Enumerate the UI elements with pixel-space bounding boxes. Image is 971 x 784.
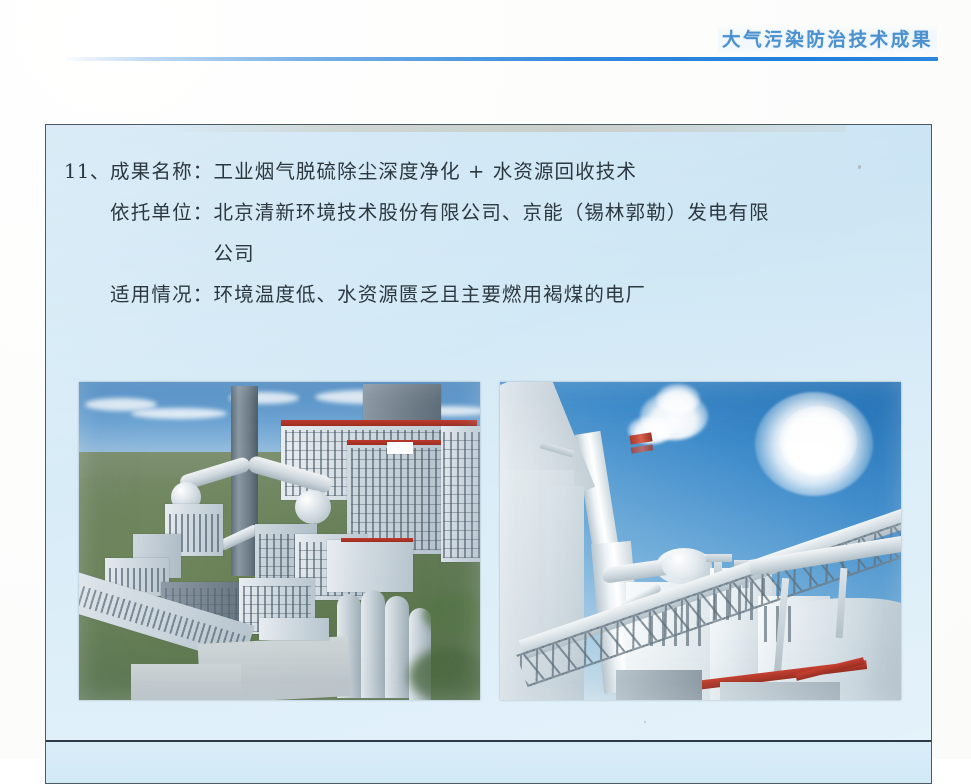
header-rule: [66, 57, 938, 61]
content-frame: 11、 成果名称： 工业烟气脱硫除尘深度净化 + 水资源回收技术 11、 依托单…: [45, 124, 932, 784]
scan-speck: [644, 721, 646, 723]
power-plant-aerial-photo: [79, 382, 480, 700]
field-value-organization: 北京清新环境技术股份有限公司、京能（锡林郭勒）发电有限: [214, 192, 916, 233]
field-value-achievement-name: 工业烟气脱硫除尘深度净化 + 水资源回收技术: [214, 151, 916, 192]
entry-number: 11、: [64, 151, 110, 192]
entry-text-block: 11、 成果名称： 工业烟气脱硫除尘深度净化 + 水资源回收技术 11、 依托单…: [64, 151, 916, 315]
entry-row-organization: 11、 依托单位： 北京清新环境技术股份有限公司、京能（锡林郭勒）发电有限: [64, 192, 916, 233]
field-value-application: 环境温度低、水资源匮乏且主要燃用褐煤的电厂: [214, 274, 916, 315]
entry-row-application: 11、 适用情况： 环境温度低、水资源匮乏且主要燃用褐煤的电厂: [64, 274, 916, 315]
scan-artifact: [166, 125, 846, 132]
page-title: 大气污染防治技术成果: [718, 24, 937, 55]
figure-row: [79, 382, 901, 702]
entry-row-name: 11、 成果名称： 工业烟气脱硫除尘深度净化 + 水资源回收技术: [64, 151, 916, 192]
chimney-upward-photo: [500, 382, 901, 700]
field-label-organization: 依托单位：: [110, 192, 214, 233]
entry-row-organization-continued: 11、 成果名称： 公司: [64, 233, 916, 274]
field-label-application: 适用情况：: [110, 274, 214, 315]
running-header: 大气污染防治技术成果: [0, 0, 971, 70]
field-value-organization-continued: 公司: [214, 233, 916, 274]
field-label-achievement-name: 成果名称：: [110, 151, 214, 192]
bottom-section: [46, 742, 931, 784]
